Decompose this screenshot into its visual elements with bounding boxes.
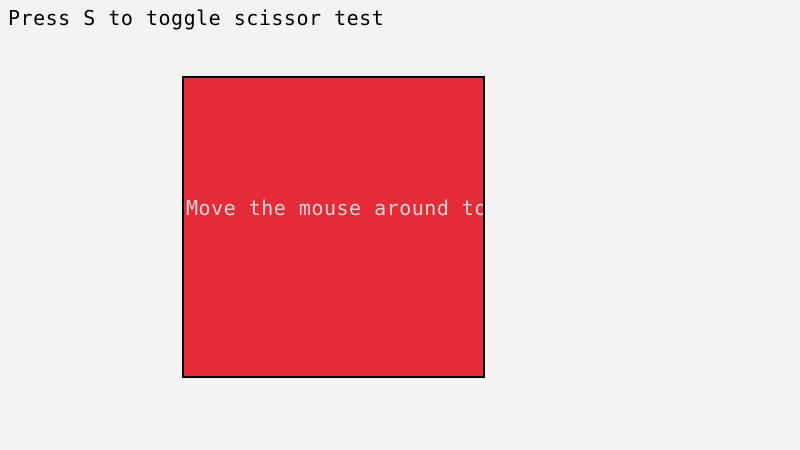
- scissor-toggle-hint: Press S to toggle scissor test: [8, 7, 384, 29]
- clipped-message-text: Move the mouse around to r: [186, 197, 485, 219]
- scissor-rectangle[interactable]: Move the mouse around to r: [182, 76, 485, 378]
- scissor-fill: [184, 78, 483, 376]
- app-window: Press S to toggle scissor test Move the …: [0, 0, 800, 450]
